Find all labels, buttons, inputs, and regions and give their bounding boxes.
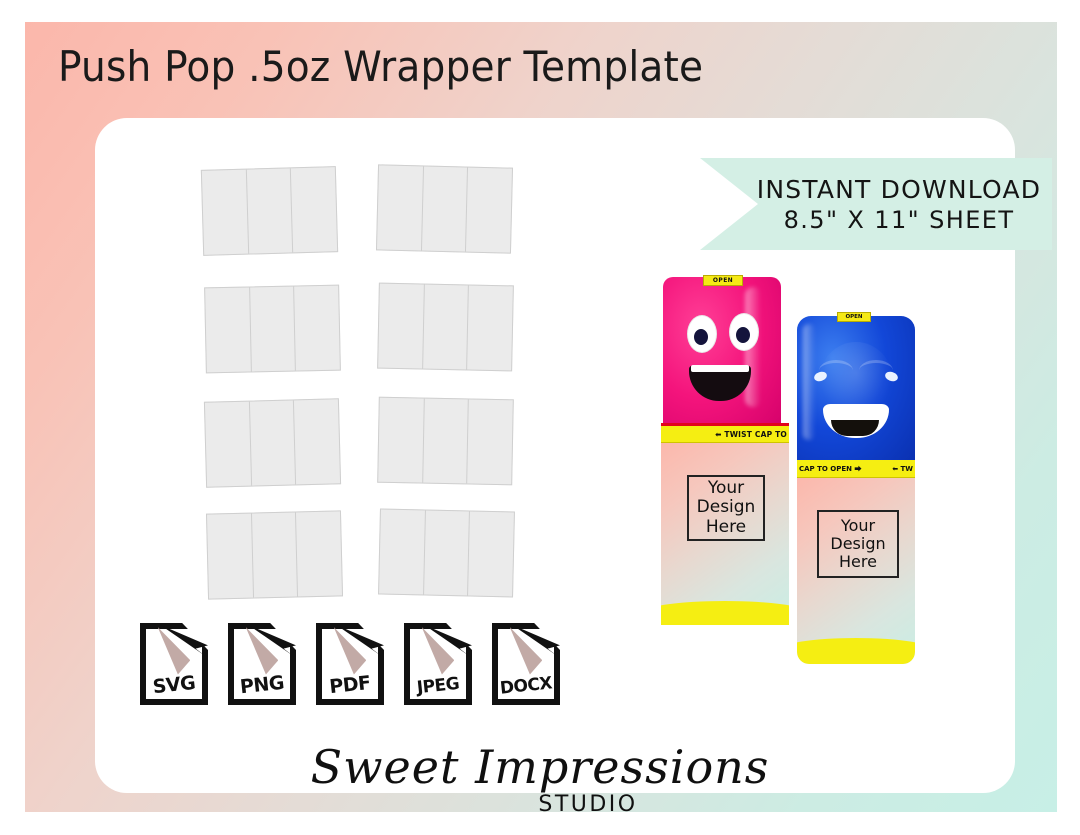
twist-cap-band-pink: ⬅ TWIST CAP TO: [661, 423, 789, 443]
template-panel: [250, 400, 297, 485]
file-badge-docx: DOCX: [492, 623, 560, 705]
design-placeholder-blue: Your Design Here: [817, 510, 899, 578]
open-tab-blue: OPEN: [837, 312, 871, 322]
open-tab-pink: OPEN: [703, 275, 743, 286]
product-mockup-pink: OPEN ⬅ TWIST CAP TO Your Design Here: [661, 277, 789, 625]
smile-icon: [823, 404, 889, 438]
template-rectangle: [201, 166, 338, 256]
template-panel: [250, 287, 296, 372]
template-panel: [294, 286, 339, 371]
template-rectangle: [378, 508, 515, 597]
template-panel: [468, 512, 514, 597]
template-panel: [294, 399, 340, 484]
page-title: Push Pop .5oz Wrapper Template: [58, 46, 703, 88]
template-rectangle: [204, 285, 341, 374]
pop-cap-pink: [663, 277, 781, 432]
cap-highlight: [803, 324, 815, 440]
template-panel: [291, 167, 337, 252]
template-panel: [423, 399, 469, 484]
product-mockup-blue: OPEN CAP TO OPEN ⮕ ⬅ TW Your Design Here: [797, 312, 915, 664]
template-panel: [377, 165, 424, 250]
file-badge-png: PNG: [228, 623, 296, 705]
template-panel: [205, 287, 251, 372]
template-panel: [422, 166, 469, 251]
template-panel: [205, 402, 252, 487]
template-panel: [378, 284, 424, 369]
pop-base-pink: [661, 607, 789, 625]
template-panel: [424, 511, 471, 596]
template-rectangle: [376, 164, 513, 253]
twist-band-left-text: CAP TO OPEN ⮕: [799, 464, 861, 474]
design-placeholder-pink: Your Design Here: [687, 475, 765, 541]
template-panel: [467, 285, 512, 370]
template-panel: [252, 512, 299, 597]
template-rectangle: [204, 398, 341, 488]
file-badge-svg: SVG: [140, 623, 208, 705]
twist-cap-band-blue: CAP TO OPEN ⮕ ⬅ TW: [797, 460, 915, 478]
template-rectangle: [377, 283, 514, 372]
file-format-list: SVG PNG PDF JPEG DOCX: [140, 623, 560, 705]
file-badge-jpeg: JPEG: [404, 623, 472, 705]
template-panel: [202, 170, 249, 255]
template-panel: [468, 399, 513, 484]
template-panel: [207, 514, 254, 599]
pupil-icon: [736, 327, 750, 343]
template-panel: [423, 285, 469, 370]
template-panel: [296, 511, 342, 596]
template-rectangle: [206, 510, 343, 599]
template-panel: [378, 398, 424, 483]
pupil-icon: [694, 329, 708, 345]
pop-base-blue: [797, 644, 915, 664]
banner-line-1: INSTANT DOWNLOAD: [757, 175, 1041, 204]
banner-line-2: 8.5" X 11" SHEET: [784, 206, 1015, 234]
template-rectangle: [377, 397, 514, 486]
template-panel: [247, 168, 294, 253]
file-badge-pdf: PDF: [316, 623, 384, 705]
template-panel: [379, 510, 426, 595]
listing-image: Push Pop .5oz Wrapper Template INSTANT D…: [0, 0, 1080, 835]
twist-band-right-text: ⬅ TW: [892, 465, 913, 473]
template-panel: [466, 168, 512, 253]
